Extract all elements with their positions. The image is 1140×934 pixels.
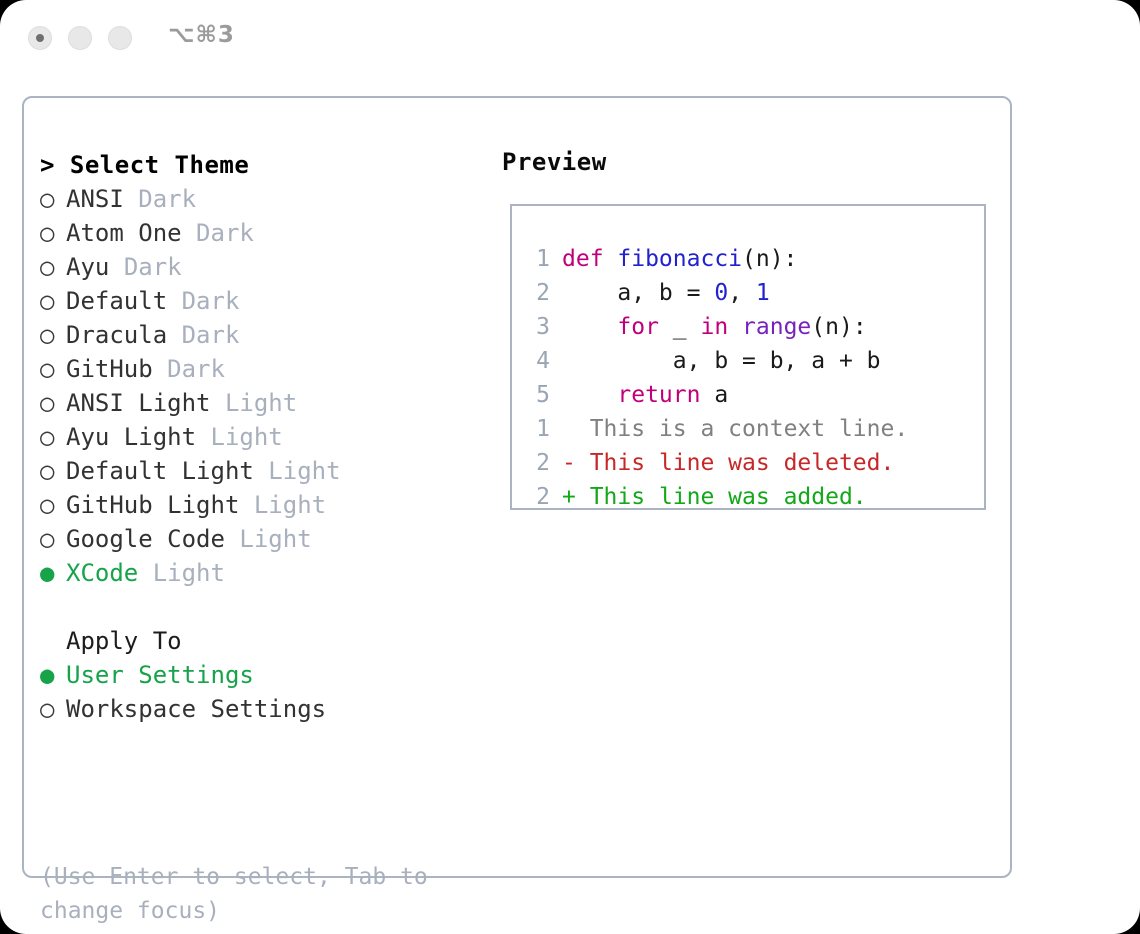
theme-variant-badge: Light bbox=[268, 457, 340, 485]
radio-unselected-icon: ○ bbox=[40, 522, 66, 556]
window-titlebar: ⌥⌘3 bbox=[0, 0, 1140, 78]
theme-name: Dracula bbox=[66, 321, 167, 349]
theme-name: Default bbox=[66, 287, 167, 315]
apply-to-item[interactable]: ○Workspace Settings bbox=[40, 692, 480, 726]
theme-variant-badge: Dark bbox=[138, 185, 196, 213]
radio-unselected-icon: ○ bbox=[40, 318, 66, 352]
code-token: a bbox=[700, 382, 728, 408]
theme-list-column: > Select Theme ○ANSI Dark○Atom One Dark○… bbox=[40, 148, 480, 726]
diff-line: 2+ This line was added. bbox=[528, 480, 908, 514]
radio-unselected-icon: ○ bbox=[40, 692, 66, 726]
radio-unselected-icon: ○ bbox=[40, 182, 66, 216]
apply-to-item[interactable]: ●User Settings bbox=[40, 658, 480, 692]
theme-name: ANSI Light bbox=[66, 389, 211, 417]
line-number: 2 bbox=[528, 276, 550, 310]
apply-to-name: Workspace Settings bbox=[66, 695, 326, 723]
theme-list-item[interactable]: ○Dracula Dark bbox=[40, 318, 480, 352]
radio-unselected-icon: ○ bbox=[40, 250, 66, 284]
radio-unselected-icon: ○ bbox=[40, 386, 66, 420]
radio-unselected-icon: ○ bbox=[40, 352, 66, 386]
code-token bbox=[562, 314, 617, 340]
code-token: return bbox=[617, 382, 700, 408]
diff-marker bbox=[562, 416, 576, 442]
code-token: (n): bbox=[811, 314, 866, 340]
code-line: 3 for _ in range(n): bbox=[528, 310, 881, 344]
code-token: a, b = b, a + b bbox=[562, 348, 881, 374]
apply-to-label: Apply To bbox=[40, 624, 480, 658]
theme-list-item[interactable]: ○GitHub Light Light bbox=[40, 488, 480, 522]
theme-name: Atom One bbox=[66, 219, 182, 247]
diff-text: This is a context line. bbox=[576, 416, 908, 442]
app-window: ⌥⌘3 > Select Theme ○ANSI Dark○Atom One D… bbox=[0, 0, 1140, 934]
diff-line: 2- This line was deleted. bbox=[528, 446, 908, 480]
apply-to-list: ●User Settings○Workspace Settings bbox=[40, 658, 480, 726]
theme-variant-badge: Dark bbox=[167, 355, 225, 383]
code-token: fibonacci bbox=[617, 246, 742, 272]
diff-preview: 1 This is a context line.2- This line wa… bbox=[528, 412, 908, 514]
theme-list: ○ANSI Dark○Atom One Dark○Ayu Dark○Defaul… bbox=[40, 182, 480, 590]
diff-text: This line was deleted. bbox=[576, 450, 895, 476]
theme-variant-badge: Light bbox=[211, 423, 283, 451]
theme-variant-badge: Dark bbox=[124, 253, 182, 281]
code-token: for bbox=[617, 314, 659, 340]
apply-to-name: User Settings bbox=[66, 661, 254, 689]
theme-list-item[interactable]: ○Default Light Light bbox=[40, 454, 480, 488]
theme-list-item[interactable]: ○GitHub Dark bbox=[40, 352, 480, 386]
diff-marker: - bbox=[562, 450, 576, 476]
code-line: 1def fibonacci(n): bbox=[528, 242, 881, 276]
preview-title: Preview bbox=[502, 148, 607, 176]
radio-unselected-icon: ○ bbox=[40, 284, 66, 318]
theme-variant-badge: Light bbox=[153, 559, 225, 587]
code-line: 5 return a bbox=[528, 378, 881, 412]
theme-name: Ayu Light bbox=[66, 423, 196, 451]
code-token: _ bbox=[659, 314, 701, 340]
theme-variant-badge: Light bbox=[225, 389, 297, 417]
diff-marker: + bbox=[562, 484, 576, 510]
theme-list-item[interactable]: ○Google Code Light bbox=[40, 522, 480, 556]
theme-name: XCode bbox=[66, 559, 138, 587]
code-token: 0 bbox=[714, 280, 728, 306]
theme-picker-panel: > Select Theme ○ANSI Dark○Atom One Dark○… bbox=[22, 96, 1012, 878]
theme-variant-badge: Light bbox=[239, 525, 311, 553]
code-line: 2 a, b = 0, 1 bbox=[528, 276, 881, 310]
theme-name: Google Code bbox=[66, 525, 225, 553]
code-preview: 1def fibonacci(n):2 a, b = 0, 13 for _ i… bbox=[528, 242, 881, 412]
line-number: 1 bbox=[528, 412, 550, 446]
radio-unselected-icon: ○ bbox=[40, 216, 66, 250]
line-number: 2 bbox=[528, 446, 550, 480]
theme-list-item[interactable]: ○Atom One Dark bbox=[40, 216, 480, 250]
code-token: range bbox=[742, 314, 811, 340]
theme-list-item[interactable]: ●XCode Light bbox=[40, 556, 480, 590]
code-token: def bbox=[562, 246, 617, 272]
diff-line: 1 This is a context line. bbox=[528, 412, 908, 446]
line-number: 1 bbox=[528, 242, 550, 276]
theme-variant-badge: Light bbox=[254, 491, 326, 519]
radio-unselected-icon: ○ bbox=[40, 454, 66, 488]
list-spacer bbox=[40, 590, 480, 624]
radio-selected-icon: ● bbox=[40, 658, 66, 692]
preview-panel: 1def fibonacci(n):2 a, b = 0, 13 for _ i… bbox=[510, 204, 986, 510]
window-controls bbox=[28, 26, 132, 50]
theme-list-item[interactable]: ○Ayu Light Light bbox=[40, 420, 480, 454]
code-line: 4 a, b = b, a + b bbox=[528, 344, 881, 378]
window-dot-minimize[interactable] bbox=[68, 26, 92, 50]
theme-list-item[interactable]: ○ANSI Dark bbox=[40, 182, 480, 216]
theme-variant-badge: Dark bbox=[182, 287, 240, 315]
window-dot-close[interactable] bbox=[28, 26, 52, 50]
code-token: , bbox=[728, 280, 756, 306]
theme-name: Ayu bbox=[66, 253, 109, 281]
diff-text: This line was added. bbox=[576, 484, 867, 510]
code-token: a, b = bbox=[562, 280, 714, 306]
keyboard-hint: (Use Enter to select, Tab to change focu… bbox=[40, 860, 460, 928]
radio-unselected-icon: ○ bbox=[40, 488, 66, 522]
line-number: 2 bbox=[528, 480, 550, 514]
code-token bbox=[562, 382, 617, 408]
theme-name: GitHub bbox=[66, 355, 153, 383]
radio-selected-icon: ● bbox=[40, 556, 66, 590]
window-dot-maximize[interactable] bbox=[108, 26, 132, 50]
theme-list-item[interactable]: ○ANSI Light Light bbox=[40, 386, 480, 420]
window-dot-close-inner bbox=[36, 34, 44, 42]
theme-variant-badge: Dark bbox=[196, 219, 254, 247]
theme-list-header: > Select Theme bbox=[40, 148, 480, 182]
line-number: 4 bbox=[528, 344, 550, 378]
line-number: 3 bbox=[528, 310, 550, 344]
code-token: in bbox=[700, 314, 728, 340]
theme-name: ANSI bbox=[66, 185, 124, 213]
keyboard-shortcut-label: ⌥⌘3 bbox=[168, 22, 235, 48]
code-token: (n): bbox=[742, 246, 797, 272]
radio-unselected-icon: ○ bbox=[40, 420, 66, 454]
code-token bbox=[728, 314, 742, 340]
line-number: 5 bbox=[528, 378, 550, 412]
code-token: 1 bbox=[756, 280, 770, 306]
theme-name: GitHub Light bbox=[66, 491, 239, 519]
theme-list-item[interactable]: ○Default Dark bbox=[40, 284, 480, 318]
theme-list-item[interactable]: ○Ayu Dark bbox=[40, 250, 480, 284]
theme-variant-badge: Dark bbox=[182, 321, 240, 349]
theme-name: Default Light bbox=[66, 457, 254, 485]
